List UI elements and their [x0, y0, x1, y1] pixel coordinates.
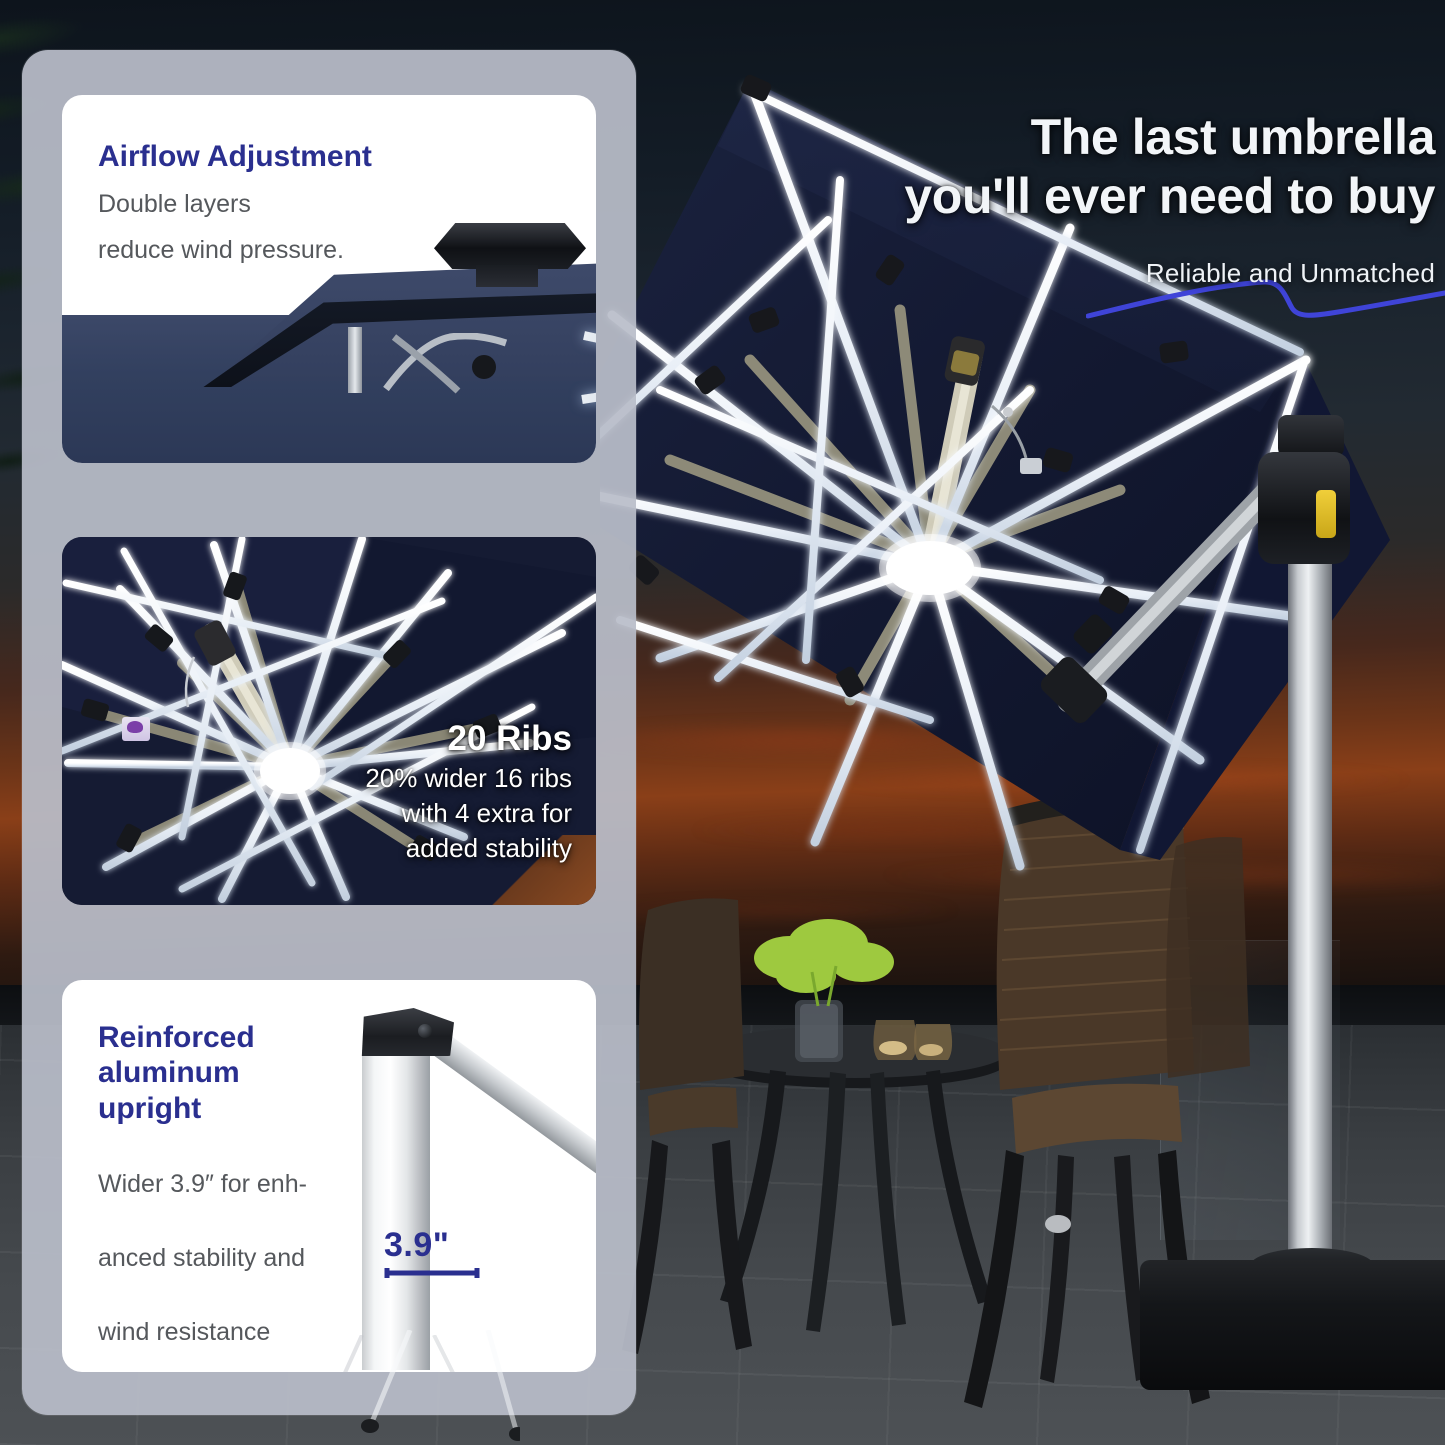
upright-body-line-1: Wider 3.9″ for enh-	[98, 1168, 348, 1200]
upright-body-line-2: anced stability and	[98, 1242, 348, 1274]
ribs-title: 20 Ribs	[310, 719, 572, 759]
feature-card-upright: Reinforced aluminum upright Wider 3.9″ f…	[62, 980, 596, 1372]
pole-pivot-bolt-icon	[418, 1024, 432, 1038]
upright-heading-line-2: aluminum	[98, 1055, 348, 1090]
aluminum-upright-pole	[1288, 440, 1332, 1270]
support-arm	[428, 1030, 596, 1186]
subline-text: Reliable and Unmatched	[1146, 258, 1435, 288]
pole-hinge-housing	[1258, 452, 1350, 564]
upright-heading-line-3: upright	[98, 1091, 348, 1126]
headline-line-2: you'll ever need to buy	[770, 167, 1435, 226]
canopy-frame-detail	[380, 333, 512, 395]
airflow-text-block: Airflow Adjustment Double layers reduce …	[98, 139, 372, 266]
ribs-text-block: 20 Ribs 20% wider 16 ribs with 4 extra f…	[310, 719, 572, 865]
airflow-heading: Airflow Adjustment	[98, 139, 372, 174]
feature-card-ribs: 20 Ribs 20% wider 16 ribs with 4 extra f…	[62, 537, 596, 905]
upright-text-block: Reinforced aluminum upright Wider 3.9″ f…	[98, 1020, 348, 1372]
umbrella-weighted-base	[1140, 1260, 1445, 1390]
ribs-sub-line-3: added stability	[310, 833, 572, 864]
pole-cap	[358, 1008, 454, 1056]
subline-block: Reliable and Unmatched	[1146, 258, 1435, 289]
dimension-line-icon	[384, 1266, 480, 1278]
headline-line-1: The last umbrella	[770, 108, 1435, 167]
ribs-sub-line-1: 20% wider 16 ribs	[310, 763, 572, 794]
vent-cap	[434, 223, 586, 269]
pole-top-cap	[1278, 415, 1344, 457]
airflow-body-line-2: reduce wind pressure.	[98, 234, 372, 266]
hero-headline-block: The last umbrella you'll ever need to bu…	[770, 108, 1435, 289]
dimension-callout: 3.9"	[384, 1226, 449, 1265]
ribs-sub-line-2: with 4 extra for	[310, 798, 572, 829]
umbrella-stand-legs	[300, 1330, 520, 1445]
dimension-label: 3.9"	[384, 1226, 449, 1265]
airflow-body-line-1: Double layers	[98, 188, 372, 220]
upright-pole	[362, 1050, 430, 1370]
product-tag	[122, 717, 150, 741]
upright-heading-line-1: Reinforced	[98, 1020, 348, 1055]
crank-handle	[1316, 490, 1336, 538]
feature-card-airflow: Airflow Adjustment Double layers reduce …	[62, 95, 596, 463]
feature-panel: Airflow Adjustment Double layers reduce …	[22, 50, 636, 1415]
